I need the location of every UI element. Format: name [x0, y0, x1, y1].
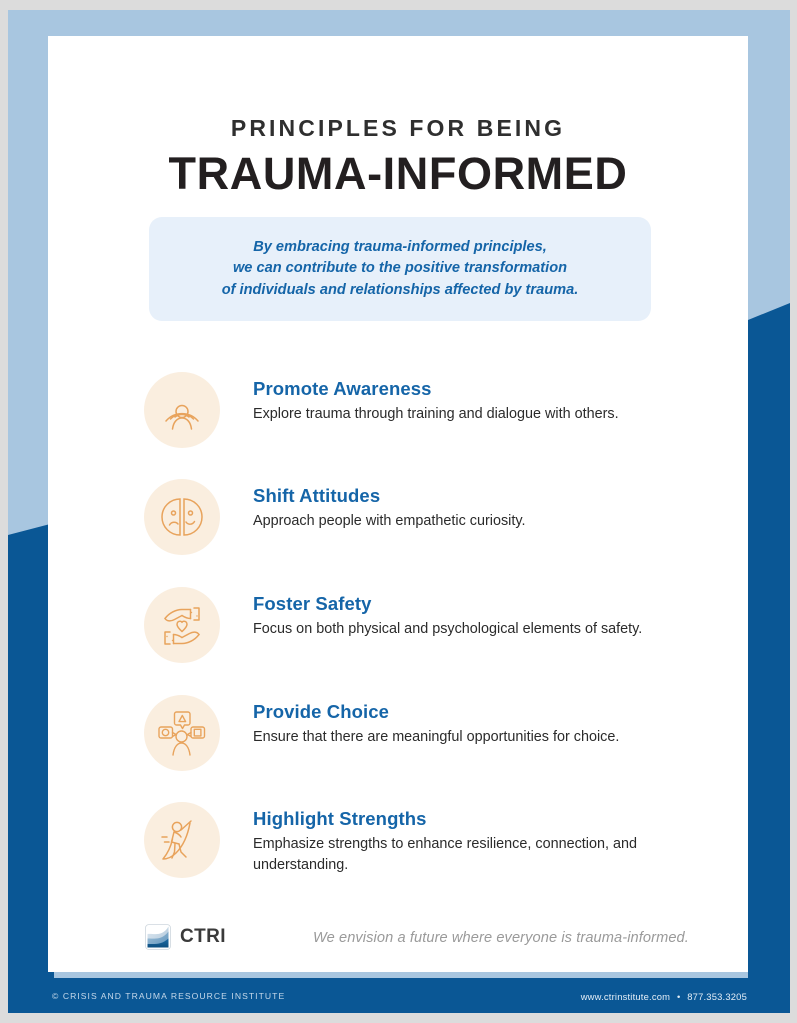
principle-title: Provide Choice [253, 702, 619, 722]
bottom-page-edge [0, 1013, 797, 1023]
principle-text: Provide Choice Ensure that there are mea… [253, 693, 619, 748]
principle-text: Foster Safety Focus on both physical and… [253, 585, 642, 640]
brand-block: CTRI [145, 924, 226, 950]
content-card: PRINCIPLES FOR BEING TRAUMA-INFORMED By … [48, 36, 748, 972]
superhero-icon [144, 802, 220, 878]
mission-callout: By embracing trauma-informed principles,… [149, 217, 651, 321]
principle-title: Foster Safety [253, 594, 642, 614]
principle-item-provide-choice: Provide Choice Ensure that there are mea… [144, 693, 730, 771]
principle-title: Highlight Strengths [253, 809, 683, 829]
callout-line-2: we can contribute to the positive transf… [222, 258, 579, 280]
principle-title: Promote Awareness [253, 379, 619, 399]
principle-text: Highlight Strengths Emphasize strengths … [253, 800, 683, 875]
principle-title: Shift Attitudes [253, 486, 526, 506]
mission-callout-text: By embracing trauma-informed principles,… [208, 237, 593, 302]
principle-description: Explore trauma through training and dial… [253, 404, 619, 424]
principle-item-promote-awareness: Promote Awareness Explore trauma through… [144, 370, 730, 448]
dark-blue-right-wedge [748, 303, 790, 1013]
split-face-icon [144, 479, 220, 555]
footer-phone[interactable]: 877.353.3205 [687, 991, 747, 1002]
brand-name: CTRI [180, 926, 226, 948]
ctri-wave-logo-icon [145, 924, 171, 950]
poster: PRINCIPLES FOR BEING TRAUMA-INFORMED By … [0, 0, 797, 1023]
footer-separator: • [673, 991, 684, 1002]
right-page-edge [790, 0, 797, 1023]
footer-website[interactable]: www.ctrinstitute.com [581, 991, 670, 1002]
brand-tagline: We envision a future where everyone is t… [313, 930, 689, 946]
principle-item-foster-safety: Foster Safety Focus on both physical and… [144, 585, 730, 663]
footer-copyright: © CRISIS AND TRAUMA RESOURCE INSTITUTE [52, 991, 285, 1001]
page-kicker: PRINCIPLES FOR BEING [48, 115, 748, 142]
principle-description: Approach people with empathetic curiosit… [253, 511, 526, 531]
top-page-edge [0, 0, 797, 10]
principle-item-shift-attitudes: Shift Attitudes Approach people with emp… [144, 477, 730, 555]
principle-text: Shift Attitudes Approach people with emp… [253, 477, 526, 532]
principle-description: Ensure that there are meaningful opportu… [253, 727, 619, 747]
principle-description: Focus on both physical and psychological… [253, 619, 642, 639]
person-choices-icon [144, 695, 220, 771]
hands-heart-icon [144, 587, 220, 663]
principle-item-highlight-strengths: Highlight Strengths Emphasize strengths … [144, 800, 730, 878]
callout-line-1: By embracing trauma-informed principles, [222, 237, 579, 259]
footer-contact: www.ctrinstitute.com • 877.353.3205 [581, 991, 747, 1002]
callout-line-3: of individuals and relationships affecte… [222, 280, 579, 302]
principle-text: Promote Awareness Explore trauma through… [253, 370, 619, 425]
page-title: TRAUMA-INFORMED [48, 146, 748, 202]
awareness-broadcast-icon [144, 372, 220, 448]
left-page-edge [0, 0, 8, 1023]
principle-description: Emphasize strengths to enhance resilienc… [253, 834, 683, 875]
